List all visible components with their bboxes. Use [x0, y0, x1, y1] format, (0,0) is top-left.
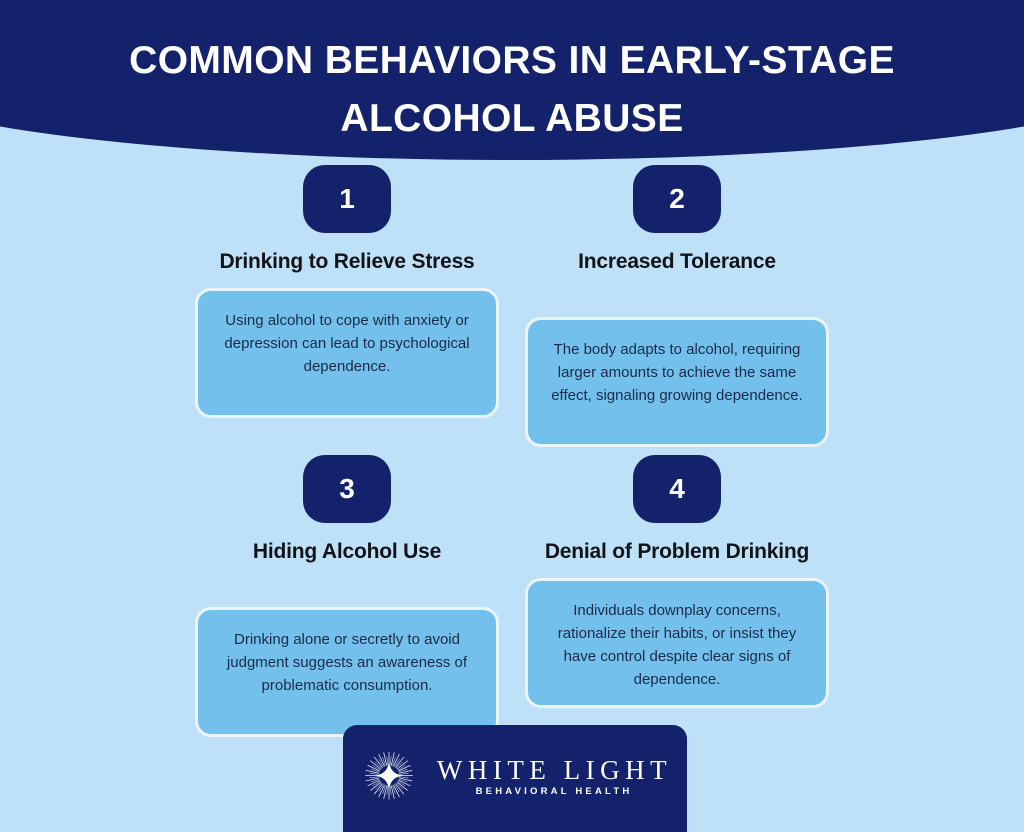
- page-title: COMMON BEHAVIORS IN EARLY-STAGE ALCOHOL …: [0, 32, 1024, 148]
- badge-label: 4: [669, 475, 685, 503]
- starburst-icon: [358, 748, 420, 810]
- badge-number-2: 2: [633, 165, 721, 233]
- behavior-description-4: Individuals downplay concerns, rationali…: [525, 578, 829, 708]
- brand-name: WHITE LIGHT: [432, 755, 672, 785]
- behavior-card-4: 4 Denial of Problem Drinking Individuals…: [512, 455, 842, 708]
- behavior-description-3: Drinking alone or secretly to avoid judg…: [195, 607, 499, 737]
- badge-number-1: 1: [303, 165, 391, 233]
- behavior-title-1: Drinking to Relieve Stress: [197, 247, 497, 276]
- behavior-description-1: Using alcohol to cope with anxiety or de…: [195, 288, 499, 418]
- behavior-title-2: Increased Tolerance: [527, 247, 827, 276]
- brand-footer: WHITE LIGHT BEHAVIORAL HEALTH: [343, 725, 687, 832]
- badge-number-3: 3: [303, 455, 391, 523]
- behavior-card-2: 2 Increased Tolerance The body adapts to…: [512, 160, 842, 447]
- badge-label: 1: [339, 185, 355, 213]
- badge-label: 3: [339, 475, 355, 503]
- behavior-card-3: 3 Hiding Alcohol Use Drinking alone or s…: [182, 455, 512, 737]
- behavior-title-3: Hiding Alcohol Use: [197, 537, 497, 566]
- grid-row-1: 1 Drinking to Relieve Stress Using alcoh…: [0, 160, 1024, 447]
- brand-tagline: BEHAVIORAL HEALTH: [472, 785, 633, 799]
- behavior-description-2: The body adapts to alcohol, requiring la…: [525, 317, 829, 447]
- behavior-card-1: 1 Drinking to Relieve Stress Using alcoh…: [182, 160, 512, 418]
- behavior-title-4: Denial of Problem Drinking: [527, 537, 827, 566]
- grid-row-2: 3 Hiding Alcohol Use Drinking alone or s…: [0, 455, 1024, 737]
- badge-label: 2: [669, 185, 685, 213]
- badge-number-4: 4: [633, 455, 721, 523]
- behaviors-grid: 1 Drinking to Relieve Stress Using alcoh…: [0, 160, 1024, 737]
- brand-wordmark: WHITE LIGHT BEHAVIORAL HEALTH: [432, 755, 672, 803]
